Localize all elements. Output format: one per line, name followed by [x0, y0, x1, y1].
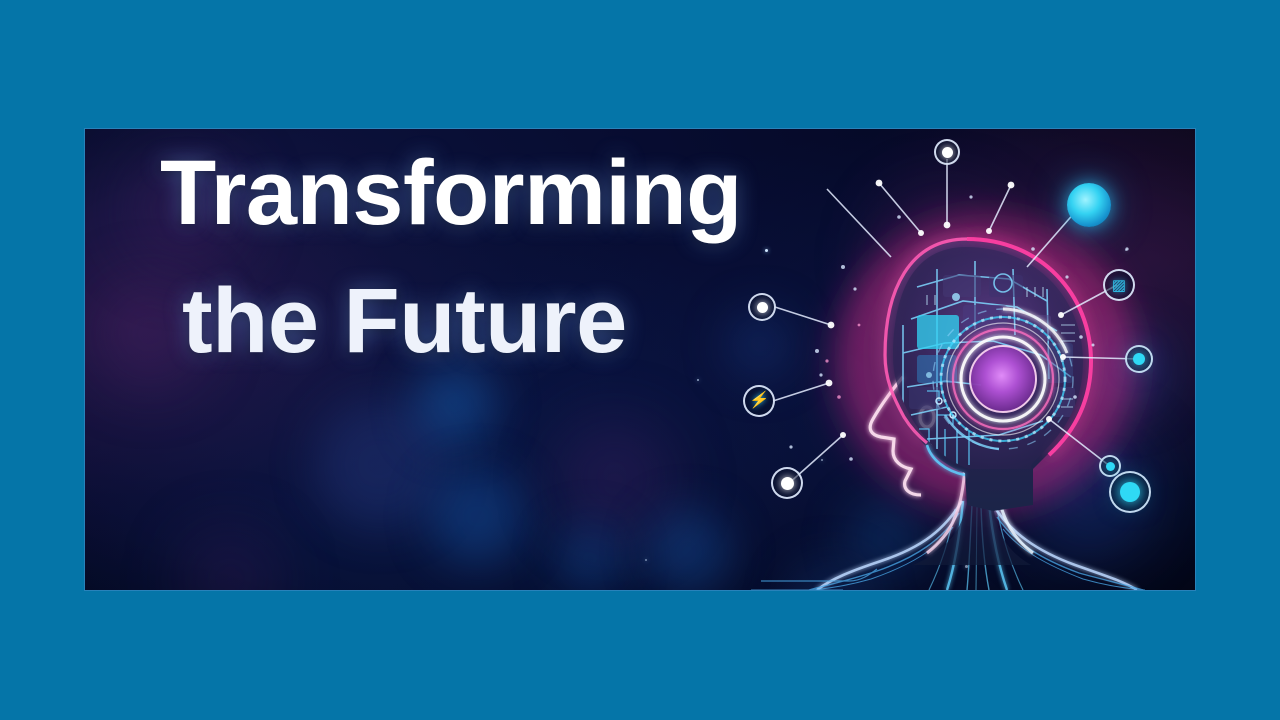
bokeh-orb — [415, 364, 495, 444]
node-bottom-left-dot[interactable] — [771, 467, 803, 499]
node-right-dot[interactable] — [1125, 345, 1153, 373]
particle — [697, 379, 699, 381]
title-line-2: the Future — [182, 275, 860, 367]
screen-icon: ▨ — [1112, 278, 1126, 293]
node-top-dot[interactable] — [934, 139, 960, 165]
particle — [645, 559, 647, 561]
slide-canvas: Transforming the Future — [0, 0, 1280, 720]
node-top-right-orb[interactable] — [1067, 183, 1111, 227]
node-indicator-dot — [942, 147, 953, 158]
node-indicator-dot — [1106, 462, 1115, 471]
bokeh-orb — [645, 509, 730, 590]
node-indicator-dot — [781, 477, 794, 490]
node-indicator-dot — [1133, 353, 1145, 365]
node-indicator-dot — [1120, 482, 1140, 502]
ai-hero-banner: Transforming the Future — [85, 129, 1195, 590]
bokeh-orb — [555, 524, 625, 590]
node-right-screen[interactable]: ▨ — [1103, 269, 1135, 301]
spark-icon: ⚡ — [748, 393, 770, 409]
page-title: Transforming the Future — [160, 139, 860, 367]
bokeh-orb — [430, 469, 525, 564]
node-bottom-right-orb[interactable] — [1109, 471, 1151, 513]
node-left-spark[interactable]: ⚡ — [743, 385, 775, 417]
title-line-1: Transforming — [160, 147, 860, 239]
